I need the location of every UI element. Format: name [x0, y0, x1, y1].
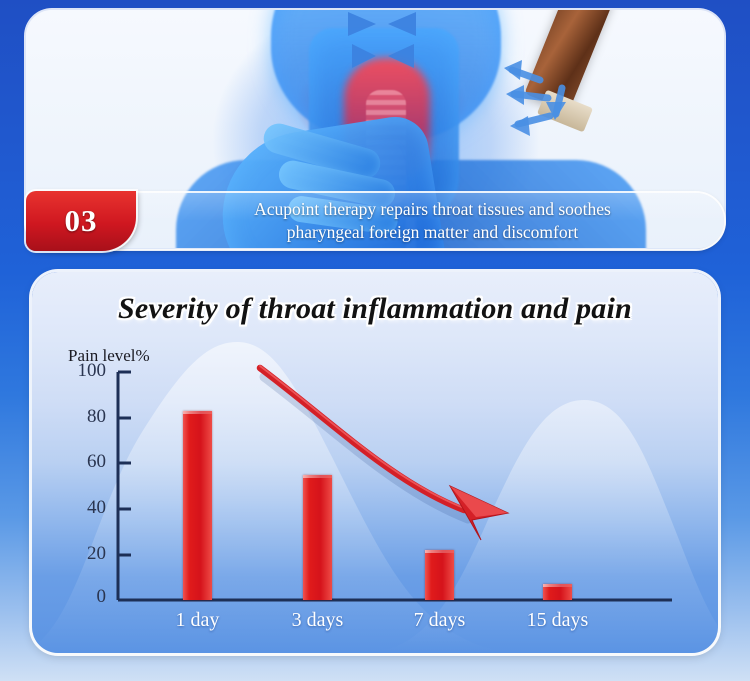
x-tick-label-7-days: 7 days — [387, 609, 492, 632]
bar-1-day — [183, 411, 212, 600]
bar-7-days — [425, 550, 454, 600]
blue-arrow-cluster-right-icon — [496, 58, 616, 158]
y-tick-label: 80 — [60, 406, 106, 428]
x-tick-label-15-days: 15 days — [505, 609, 610, 632]
y-axis-ticks — [118, 372, 131, 555]
page-root: 03 Acupoint therapy repairs throat tissu… — [0, 0, 750, 681]
chart-panel: Severity of throat inflammation and pain… — [32, 272, 718, 653]
x-tick-label-3-days: 3 days — [265, 609, 370, 632]
y-tick-label: 60 — [60, 451, 106, 473]
y-tick-label: 0 — [60, 586, 106, 608]
y-tick-label: 20 — [60, 543, 106, 565]
caption-line-2: pharyngeal foreign matter and discomfort — [287, 221, 579, 244]
bar-15-days — [543, 584, 572, 600]
chart-plot-area — [32, 272, 718, 653]
caption-text-block: Acupoint therapy repairs throat tissues … — [150, 194, 715, 248]
bar-3-days — [303, 475, 332, 600]
y-tick-label: 40 — [60, 497, 106, 519]
step-number-label: 03 — [65, 203, 98, 239]
y-tick-label: 100 — [60, 360, 106, 382]
step-number-badge: 03 — [26, 191, 136, 251]
caption-line-1: Acupoint therapy repairs throat tissues … — [254, 198, 611, 221]
blue-arrow-cluster-top-icon — [326, 10, 466, 80]
x-tick-label-1-day: 1 day — [145, 609, 250, 632]
declining-trend-arrow — [260, 366, 508, 540]
